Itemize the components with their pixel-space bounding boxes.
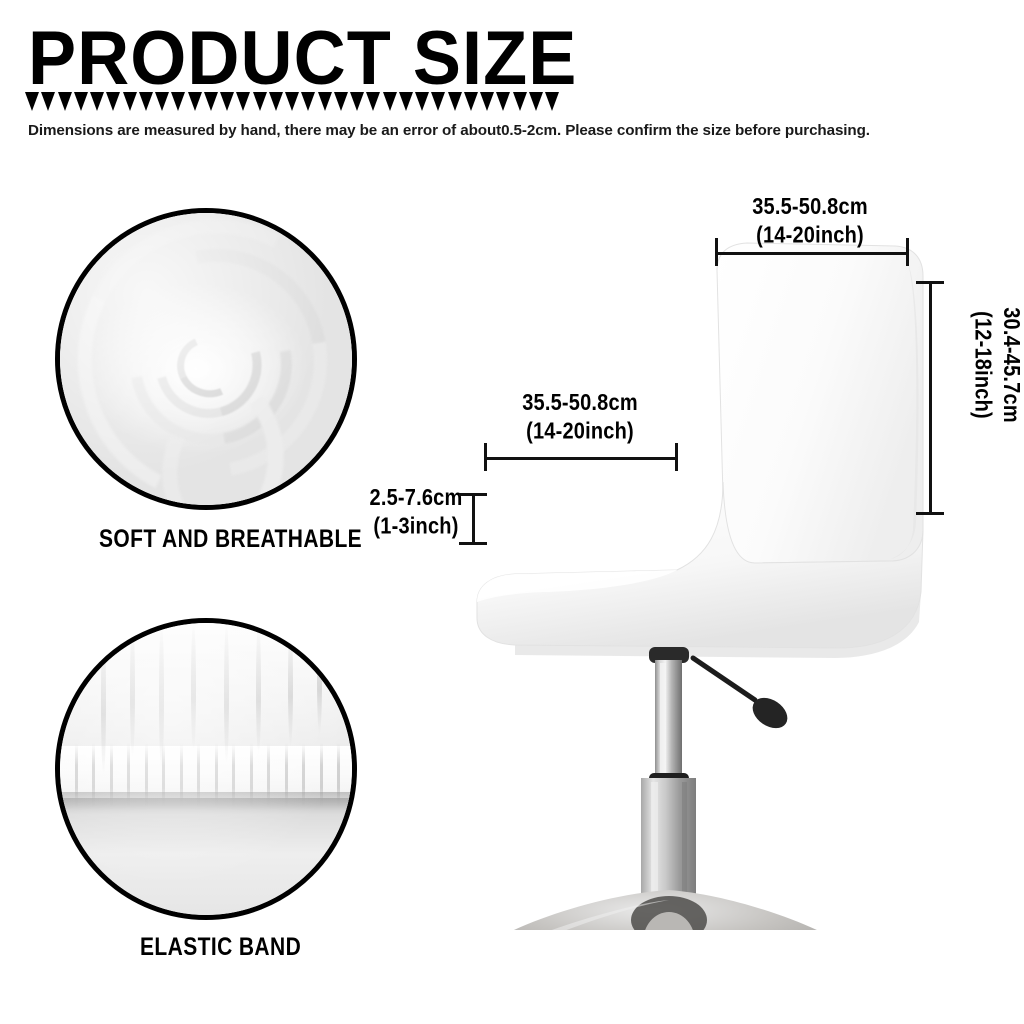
dimension-seat-thickness-cap-top	[459, 493, 487, 496]
triangle-marker-icon	[90, 92, 104, 111]
triangle-marker-icon	[204, 92, 218, 111]
feature-elastic-band: ELASTIC BAND	[55, 618, 375, 968]
dimension-seat-depth-inch: (14-20inch)	[470, 418, 690, 447]
dimension-seat-depth-label: 35.5-50.8cm (14-20inch)	[470, 390, 690, 447]
triangle-marker-icon	[415, 92, 429, 111]
triangle-marker-icon	[269, 92, 283, 111]
dimension-backrest-width-label: 35.5-50.8cm (14-20inch)	[700, 194, 920, 251]
triangle-marker-icon	[399, 92, 413, 111]
product-chair-figure	[455, 230, 955, 930]
dimension-seat-depth-cap-left	[484, 443, 487, 471]
dimension-backrest-height-label: 30.4-45.7cm (12-18inch)	[968, 255, 1024, 475]
triangle-marker-icon	[366, 92, 380, 111]
dimension-seat-thickness-cap-bottom	[459, 542, 487, 545]
triangle-marker-icon	[123, 92, 137, 111]
triangle-marker-icon	[513, 92, 527, 111]
triangle-marker-icon	[464, 92, 478, 111]
dimension-backrest-width-inch: (14-20inch)	[700, 222, 920, 251]
dimension-backrest-height-inch: (12-18inch)	[968, 255, 997, 475]
dimension-backrest-width-cap-right	[906, 238, 909, 266]
triangle-marker-icon	[285, 92, 299, 111]
dimension-seat-depth-cap-right	[675, 443, 678, 471]
dimension-backrest-width-line	[715, 252, 909, 255]
fabric-swirl-photo	[60, 213, 352, 505]
dimension-backrest-width-cap-left	[715, 238, 718, 266]
triangle-marker-icon	[383, 92, 397, 111]
dimension-seat-depth-line	[484, 457, 678, 460]
triangle-marker-icon	[253, 92, 267, 111]
triangle-marker-icon	[106, 92, 120, 111]
triangle-marker-icon	[220, 92, 234, 111]
dimension-seat-depth-cm: 35.5-50.8cm	[470, 390, 690, 419]
feature-caption-soft-and-breathable: SOFT AND BREATHABLE	[99, 526, 362, 554]
triangle-divider	[25, 92, 559, 112]
triangle-marker-icon	[188, 92, 202, 111]
triangle-marker-icon	[25, 92, 39, 111]
header: PRODUCT SIZE Dimensions are measured by …	[0, 0, 1024, 160]
triangle-marker-icon	[529, 92, 543, 111]
triangle-marker-icon	[74, 92, 88, 111]
feature-soft-and-breathable: SOFT AND BREATHABLE	[55, 208, 375, 558]
triangle-marker-icon	[139, 92, 153, 111]
page-subtitle: Dimensions are measured by hand, there m…	[28, 122, 870, 139]
dimension-seat-thickness-cm: 2.5-7.6cm	[360, 485, 472, 514]
dimension-seat-thickness-label: 2.5-7.6cm (1-3inch)	[360, 485, 472, 542]
white-slipcovered-swivel-chair-photo	[455, 230, 955, 930]
white-stretch-chair-cover	[477, 243, 923, 658]
fabric-swirl-circle	[55, 208, 357, 510]
page-title: PRODUCT SIZE	[28, 20, 577, 96]
triangle-marker-icon	[350, 92, 364, 111]
triangle-marker-icon	[431, 92, 445, 111]
triangle-marker-icon	[496, 92, 510, 111]
triangle-marker-icon	[171, 92, 185, 111]
dimension-backrest-height-line	[929, 281, 932, 515]
dimension-backrest-width-cm: 35.5-50.8cm	[700, 194, 920, 223]
triangle-marker-icon	[318, 92, 332, 111]
dimension-seat-thickness-line	[472, 493, 475, 545]
chrome-disc-base	[480, 890, 858, 930]
triangle-marker-icon	[58, 92, 72, 111]
triangle-marker-icon	[545, 92, 559, 111]
dimension-backrest-height-cap-bottom	[916, 512, 944, 515]
dimension-backrest-height-cap-top	[916, 281, 944, 284]
dimension-seat-thickness-inch: (1-3inch)	[360, 513, 472, 542]
triangle-marker-icon	[334, 92, 348, 111]
dimension-backrest-height-cm: 30.4-45.7cm	[996, 255, 1024, 475]
triangle-marker-icon	[41, 92, 55, 111]
height-adjust-lever	[693, 658, 793, 734]
feature-caption-elastic-band: ELASTIC BAND	[140, 934, 301, 962]
elastic-band-photo	[60, 623, 352, 915]
triangle-marker-icon	[236, 92, 250, 111]
chrome-gas-lift-column	[641, 647, 696, 923]
elastic-band-circle	[55, 618, 357, 920]
triangle-marker-icon	[155, 92, 169, 111]
triangle-marker-icon	[301, 92, 315, 111]
triangle-marker-icon	[448, 92, 462, 111]
triangle-marker-icon	[480, 92, 494, 111]
